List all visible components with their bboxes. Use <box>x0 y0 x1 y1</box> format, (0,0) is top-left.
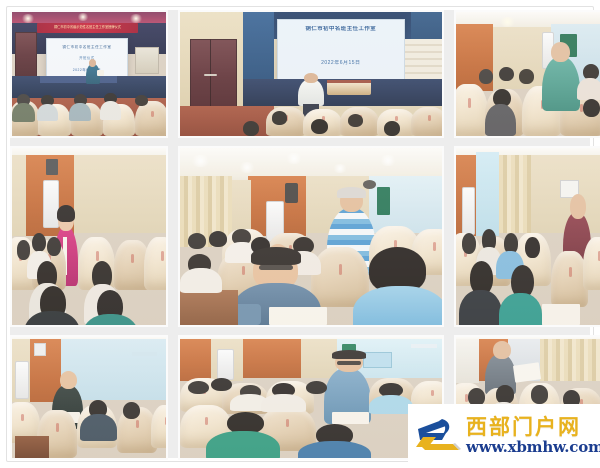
standing-man-body <box>542 57 579 112</box>
watermark-url[interactable]: www.xbmhw.com <box>466 439 600 456</box>
photo-5 <box>180 148 442 325</box>
speaker-body <box>298 79 324 106</box>
stage-banner: 铜仁市初中省级示范性名班主任工作室授牌仪式 <box>37 23 139 33</box>
projection-screen-2: 铜仁市初中名班主任工作室 2022年6月15日 <box>277 19 405 81</box>
photo-grid: 铜仁市初中省级示范性名班主任工作室授牌仪式 铜仁市初中名班主任工作室 开班仪式 … <box>10 10 590 458</box>
photo-cell-6[interactable] <box>454 146 600 327</box>
screen-date-2: 2022年6月15日 <box>278 60 404 66</box>
photo-3 <box>456 12 600 136</box>
photo-cell-3[interactable] <box>454 10 600 138</box>
screen-line-2-1: 铜仁市初中名班主任工作室 <box>278 26 404 33</box>
photo-cell-5[interactable] <box>178 146 444 327</box>
photo-cell-4[interactable] <box>10 146 168 327</box>
screen-line-2: 开班仪式 <box>47 56 127 60</box>
speaker-head <box>304 73 317 83</box>
collage-frame: 铜仁市初中省级示范性名班主任工作室授牌仪式 铜仁市初中名班主任工作室 开班仪式 … <box>0 0 600 468</box>
standing-man-head <box>551 42 570 62</box>
photo-cell-8[interactable] <box>178 335 444 460</box>
stage-banner-text: 铜仁市初中省级示范性名班主任工作室授牌仪式 <box>54 25 121 29</box>
reading-man-head <box>493 341 510 359</box>
photo-6 <box>456 148 600 325</box>
photo-8 <box>180 337 442 458</box>
standing-man-2-head <box>570 194 586 219</box>
watermark[interactable]: 西部门户网 www.xbmhw.com <box>408 404 600 468</box>
photo-cell-1[interactable]: 铜仁市初中省级示范性名班主任工作室授牌仪式 铜仁市初中名班主任工作室 开班仪式 … <box>10 10 168 138</box>
xbmhw-logo-icon <box>412 413 464 459</box>
watermark-site-name: 西部门户网 <box>466 416 581 438</box>
screen-line-1: 铜仁市初中名班主任工作室 <box>47 45 127 49</box>
photo-2: 铜仁市初中名班主任工作室 2022年6月15日 <box>180 12 442 136</box>
photo-7 <box>12 337 166 458</box>
watermark-text: 西部门户网 www.xbmhw.com <box>464 416 600 456</box>
standing-man-3-head <box>60 371 77 389</box>
photo-4 <box>12 148 166 325</box>
photo-cell-7[interactable] <box>10 335 168 460</box>
presenter-head <box>89 59 96 66</box>
photo-cell-2[interactable]: 铜仁市初中名班主任工作室 2022年6月15日 <box>178 10 444 138</box>
photo-1: 铜仁市初中省级示范性名班主任工作室授牌仪式 铜仁市初中名班主任工作室 开班仪式 … <box>12 12 166 136</box>
